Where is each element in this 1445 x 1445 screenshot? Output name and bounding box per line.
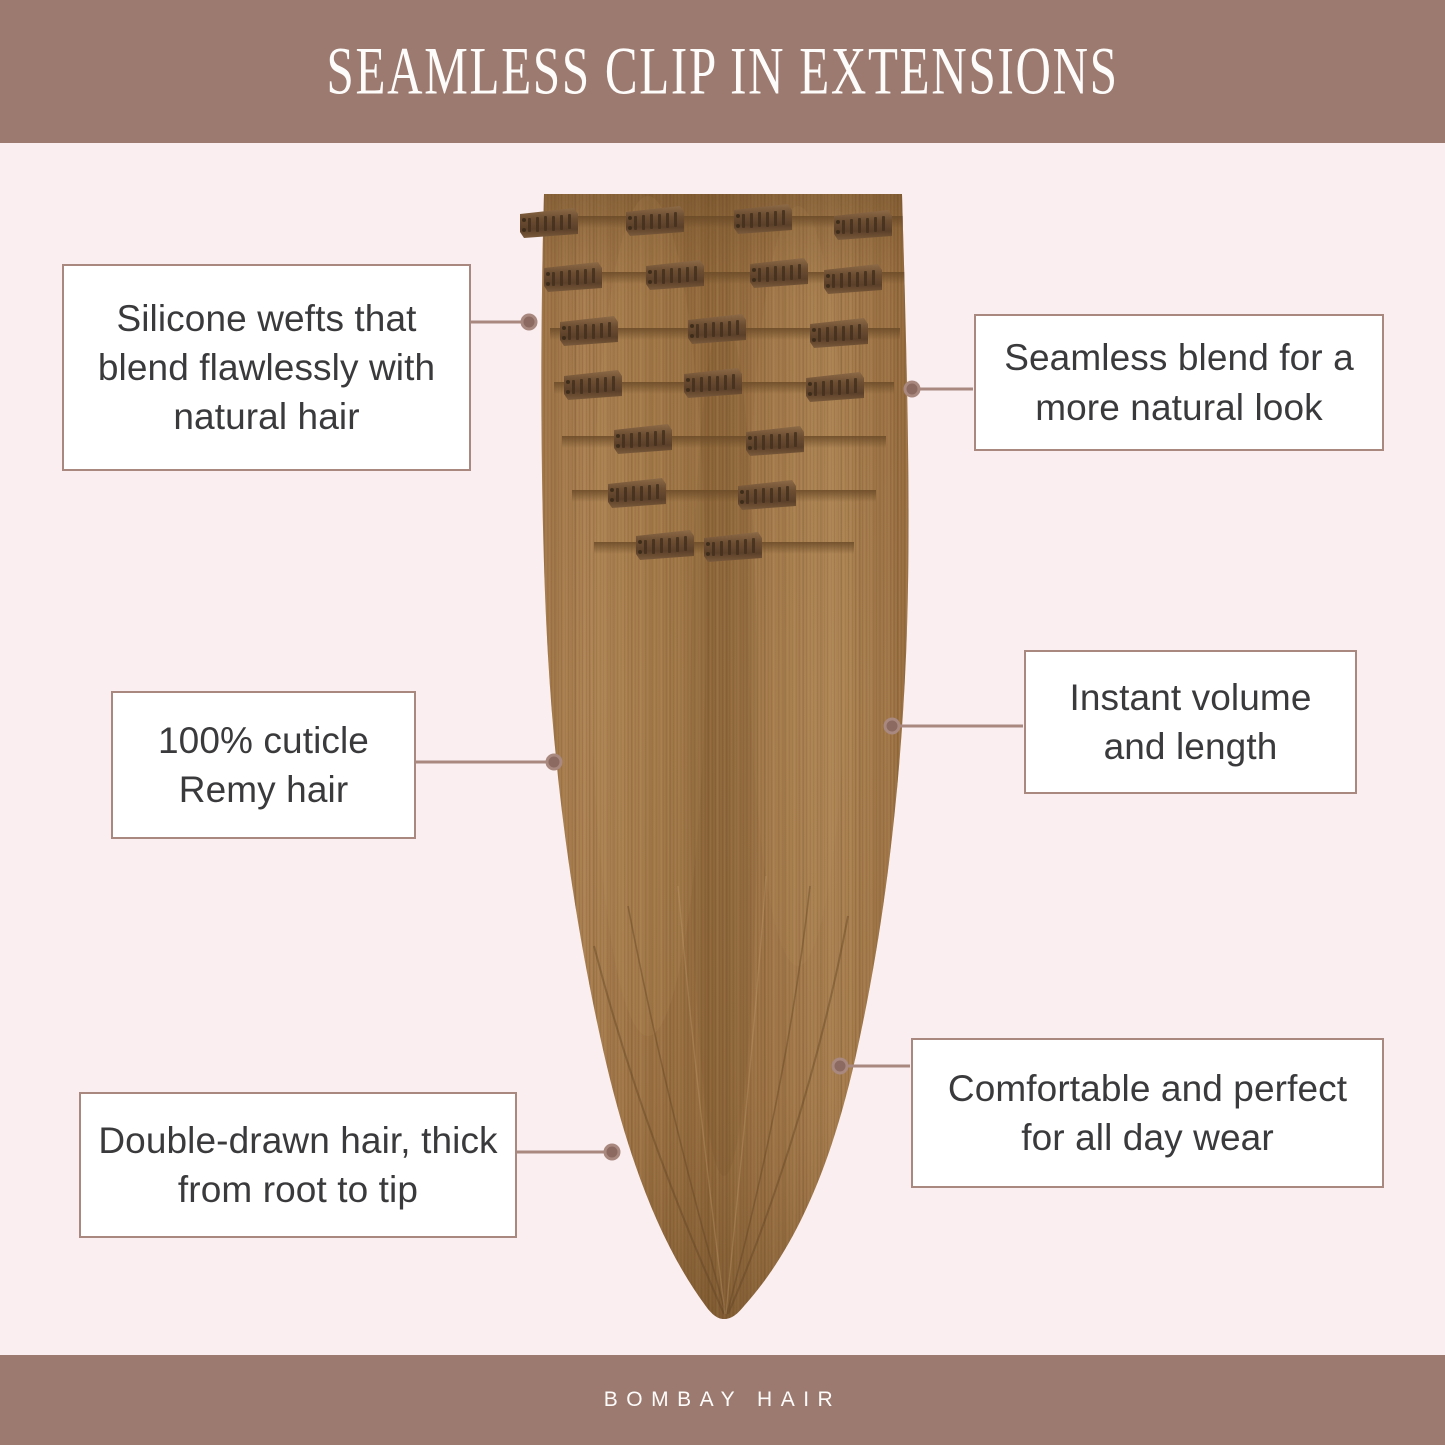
callout-comfortable-text: Comfortable and perfect for all day wear — [929, 1064, 1366, 1162]
callout-double-drawn[interactable]: Double-drawn hair, thick from root to ti… — [79, 1092, 517, 1238]
callout-silicone-wefts[interactable]: Silicone wefts that blend flawlessly wit… — [62, 264, 471, 471]
product-image-hair-extensions — [498, 186, 948, 1321]
callout-instant-volume-text: Instant volume and length — [1042, 673, 1339, 771]
callout-silicone-wefts-text: Silicone wefts that blend flawlessly wit… — [80, 294, 453, 442]
header-banner: SEAMLESS CLIP IN EXTENSIONS — [0, 0, 1445, 143]
brand-wordmark: BOMBAY HAIR — [604, 1388, 841, 1412]
callout-seamless-blend-text: Seamless blend for a more natural look — [992, 333, 1366, 431]
callout-double-drawn-text: Double-drawn hair, thick from root to ti… — [97, 1116, 499, 1214]
callout-cuticle-remy[interactable]: 100% cuticle Remy hair — [111, 691, 416, 839]
callout-seamless-blend[interactable]: Seamless blend for a more natural look — [974, 314, 1384, 451]
page-title: SEAMLESS CLIP IN EXTENSIONS — [326, 38, 1118, 105]
infographic-canvas: SEAMLESS CLIP IN EXTENSIONS — [0, 0, 1445, 1445]
callout-cuticle-remy-text: 100% cuticle Remy hair — [129, 716, 398, 814]
callout-instant-volume[interactable]: Instant volume and length — [1024, 650, 1357, 794]
callout-comfortable[interactable]: Comfortable and perfect for all day wear — [911, 1038, 1384, 1188]
footer-banner: BOMBAY HAIR — [0, 1355, 1445, 1445]
